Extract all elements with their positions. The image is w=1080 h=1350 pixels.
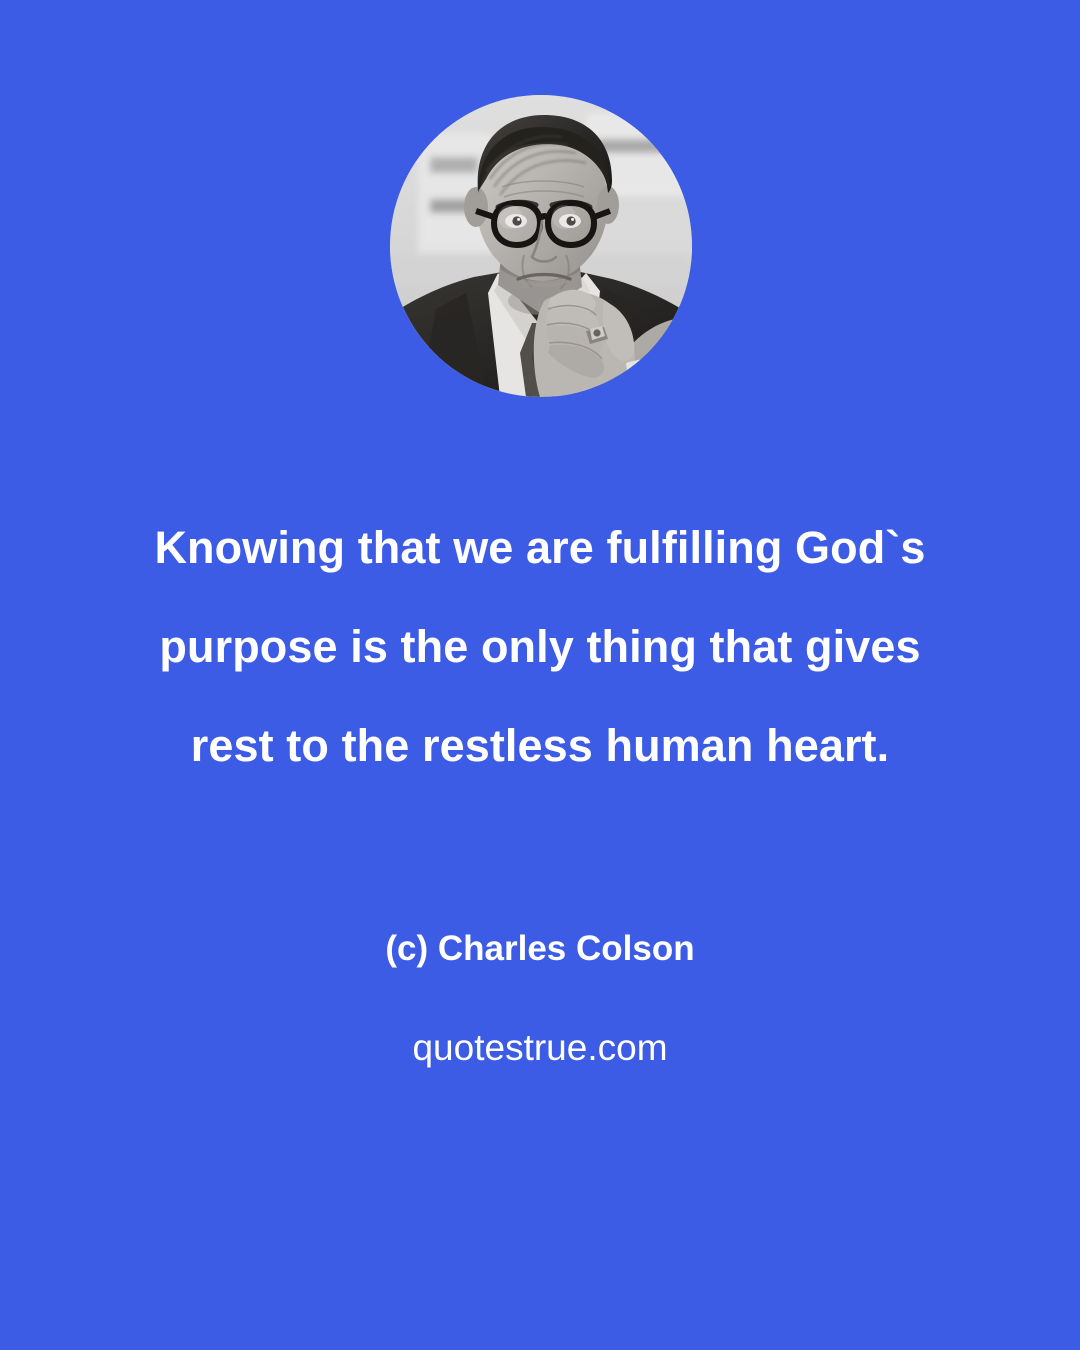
quote-attribution: (c) Charles Colson: [60, 925, 1020, 973]
quote-line-1: Knowing that we are fulfilling God`s: [60, 498, 1020, 597]
quote-text: Knowing that we are fulfilling God`s pur…: [60, 498, 1020, 795]
quote-line-2: purpose is the only thing that gives: [60, 597, 1020, 696]
quote-line-3: rest to the restless human heart.: [60, 696, 1020, 795]
author-portrait: [390, 95, 692, 397]
site-watermark: quotestrue.com: [60, 1023, 1020, 1073]
quote-card: Knowing that we are fulfilling God`s pur…: [0, 0, 1080, 1350]
author-portrait-photo: [390, 95, 692, 397]
